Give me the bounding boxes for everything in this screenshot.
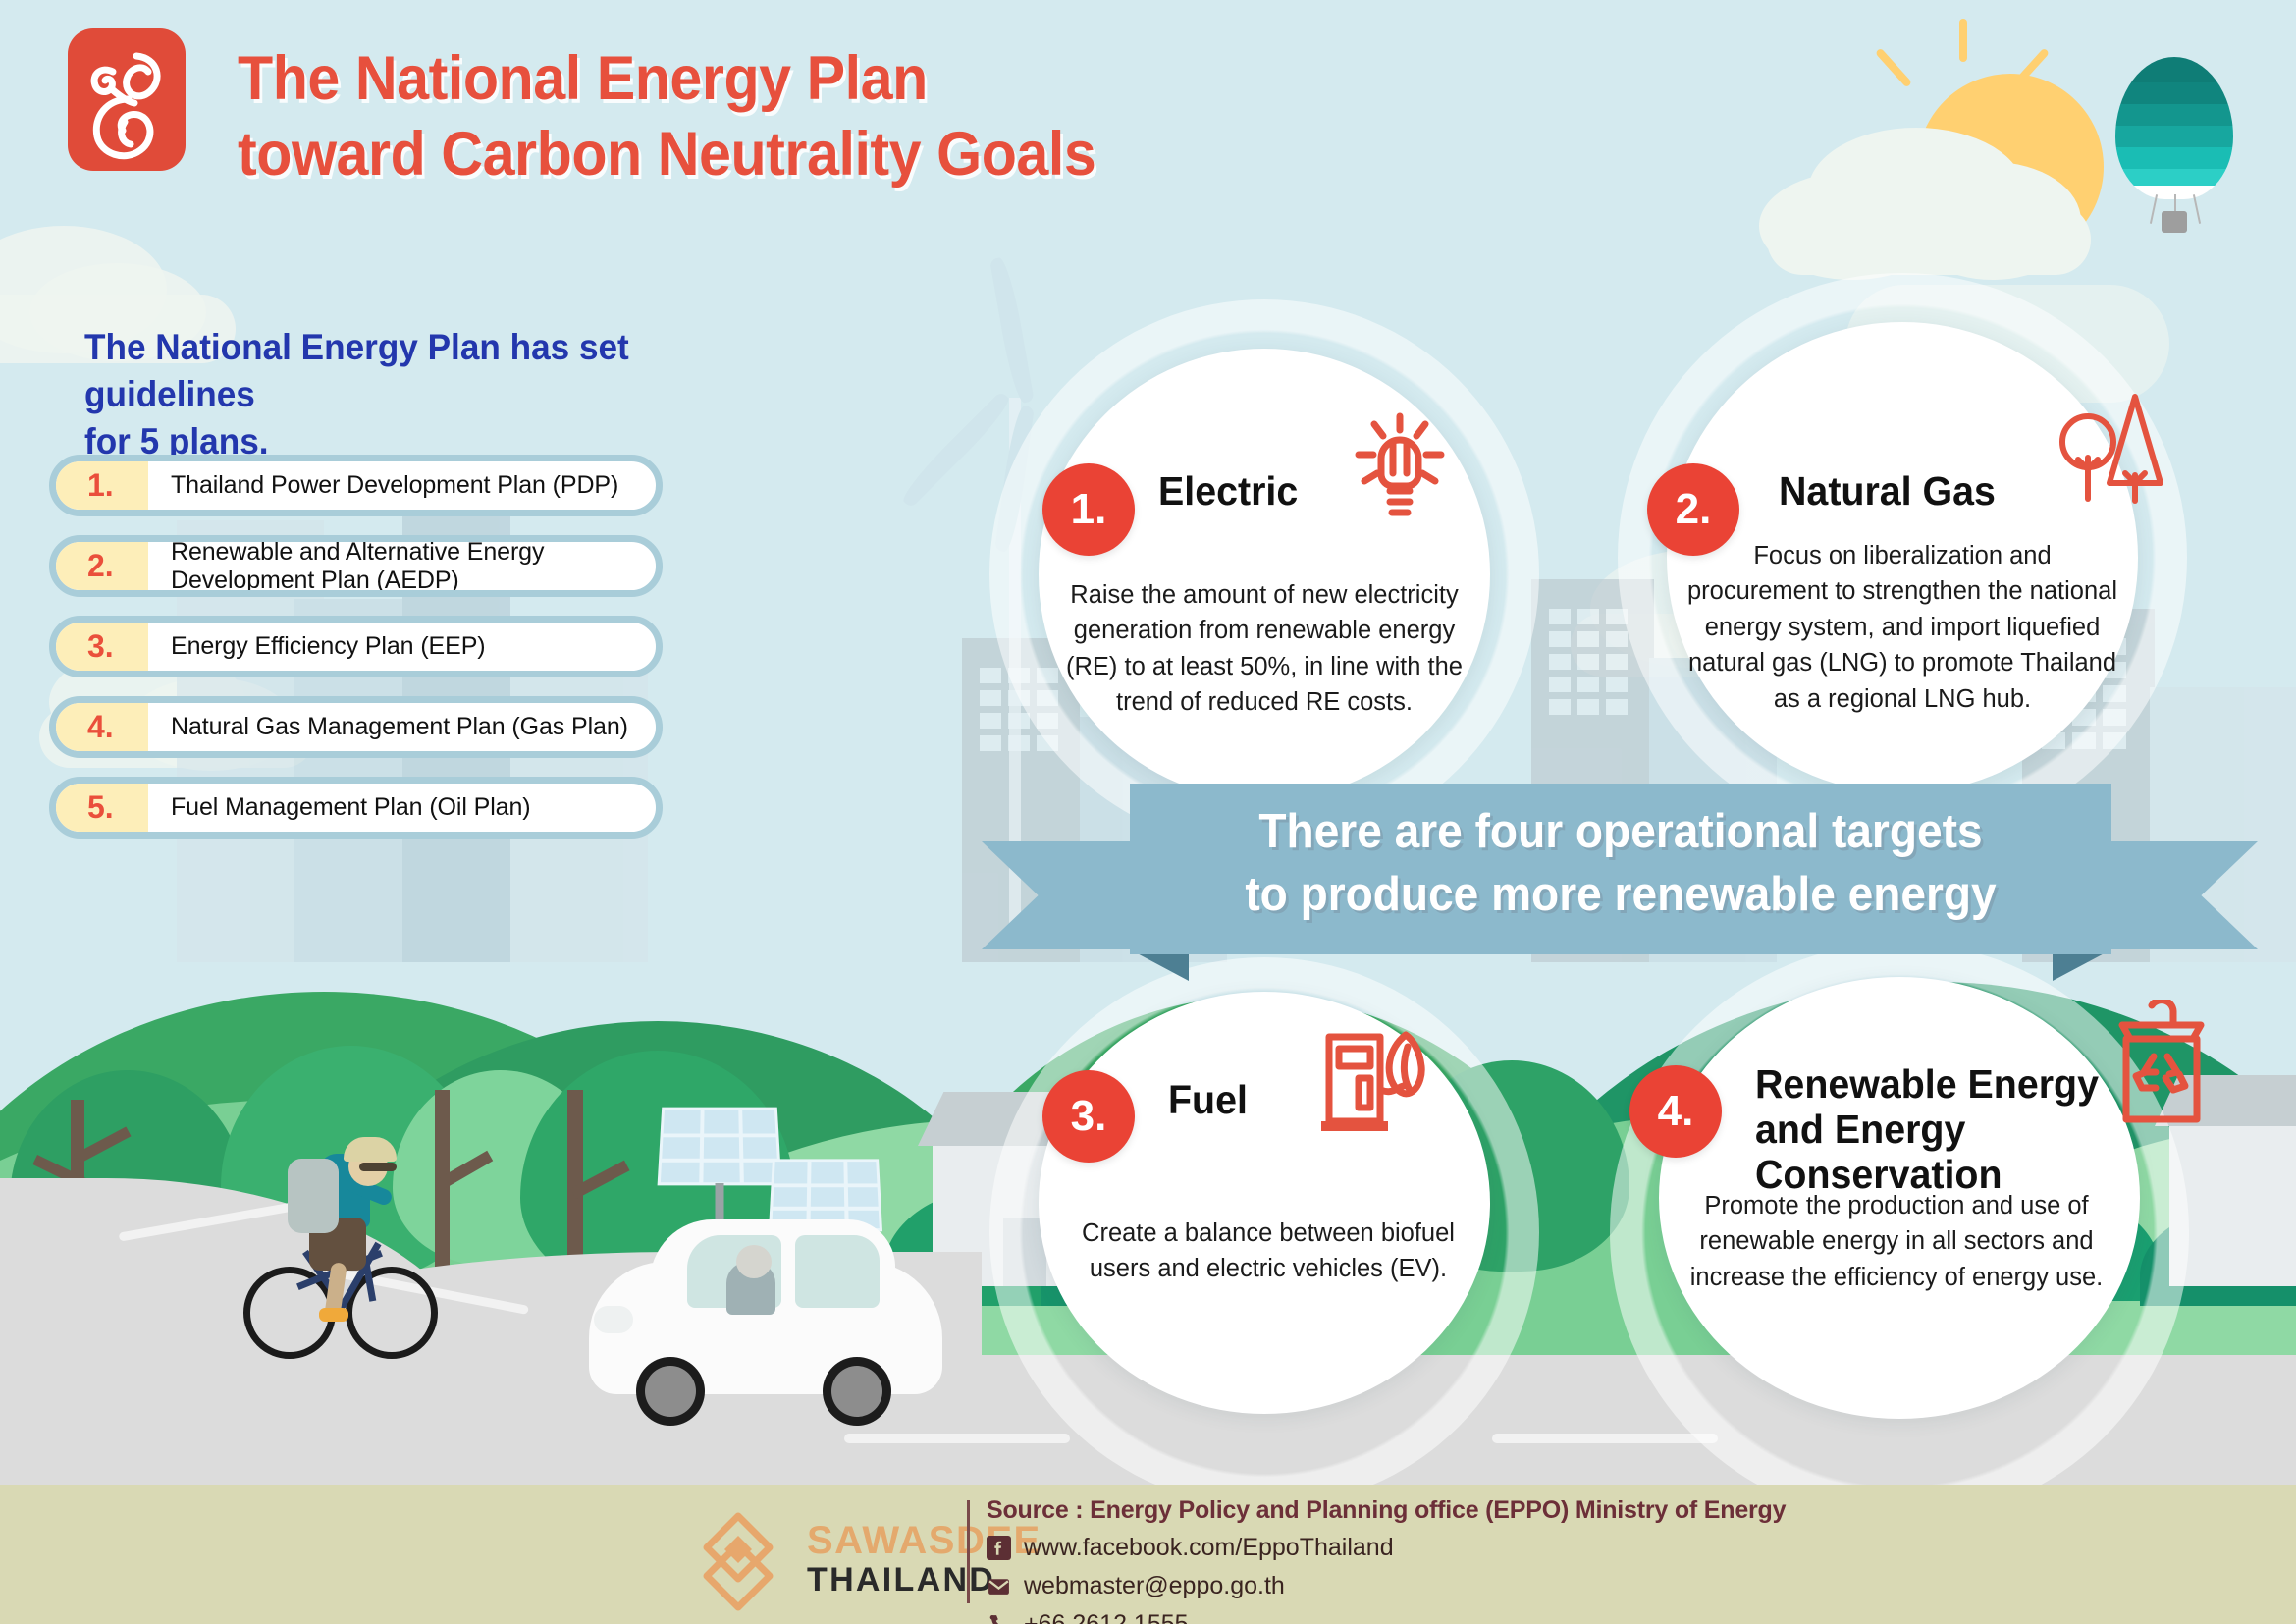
plan-item-2[interactable]: 2. Renewable and Alternative Energy Deve… — [49, 535, 663, 597]
source-text: Source : Energy Policy and Planning offi… — [987, 1496, 1786, 1525]
solar-panel-icon — [660, 1105, 779, 1185]
left-panel-subheading: The National Energy Plan has set guideli… — [84, 324, 663, 465]
plan-item-1[interactable]: 1. Thailand Power Development Plan (PDP) — [49, 455, 663, 516]
plan-number: 2. — [56, 542, 148, 590]
contact-facebook[interactable]: www.facebook.com/EppoThailand — [987, 1534, 1394, 1562]
plan-item-4[interactable]: 4. Natural Gas Management Plan (Gas Plan… — [49, 696, 663, 758]
phone-number: +66 2612 1555 — [1024, 1610, 1189, 1624]
facebook-url: www.facebook.com/EppoThailand — [1024, 1534, 1394, 1562]
contact-email[interactable]: webmaster@eppo.go.th — [987, 1572, 1285, 1600]
driver-head — [736, 1245, 772, 1278]
facebook-icon — [987, 1536, 1011, 1560]
page-title: The National Energy Plan toward Carbon N… — [238, 41, 1253, 192]
target-badge-4: 4. — [1629, 1065, 1722, 1158]
phone-icon — [987, 1612, 1011, 1624]
banner-text: There are four operational targets to pr… — [1159, 801, 2082, 926]
email-icon — [987, 1574, 1011, 1598]
plan-label: Thailand Power Development Plan (PDP) — [148, 471, 618, 500]
hot-air-balloon-icon — [2115, 57, 2233, 199]
plan-number: 3. — [56, 623, 148, 671]
fuel-pump-leaf-icon — [1315, 1029, 1433, 1144]
footer-divider — [967, 1500, 970, 1603]
road-marking — [1492, 1434, 1718, 1443]
plan-number: 4. — [56, 703, 148, 751]
target-badge-1: 1. — [1042, 463, 1135, 556]
target-badge-2: 2. — [1647, 463, 1739, 556]
banner-tail-left — [982, 841, 1139, 949]
target-badge-3: 3. — [1042, 1070, 1135, 1163]
plan-item-5[interactable]: 5. Fuel Management Plan (Oil Plan) — [49, 777, 663, 839]
plan-label: Natural Gas Management Plan (Gas Plan) — [148, 713, 628, 741]
plan-label: Energy Efficiency Plan (EEP) — [148, 632, 486, 661]
trees-icon — [2056, 391, 2164, 514]
plan-list: 1. Thailand Power Development Plan (PDP)… — [49, 455, 663, 857]
eppo-leaf-logo — [68, 28, 186, 171]
target-body-2: Focus on liberalization and procurement … — [1686, 538, 2118, 717]
headlight — [594, 1306, 633, 1333]
target-body-3: Create a balance between biofuel users a… — [1062, 1216, 1474, 1287]
diamond-logo-icon — [687, 1510, 790, 1613]
infographic-canvas: The National Energy Plan toward Carbon N… — [0, 0, 2296, 1624]
contact-phone[interactable]: +66 2612 1555 — [987, 1610, 1189, 1624]
lightbulb-icon — [1353, 410, 1447, 529]
road-marking — [844, 1434, 1070, 1443]
plan-label: Renewable and Alternative Energy Develop… — [148, 538, 656, 595]
plan-label: Fuel Management Plan (Oil Plan) — [148, 793, 531, 822]
plan-item-3[interactable]: 3. Energy Efficiency Plan (EEP) — [49, 616, 663, 677]
email-address: webmaster@eppo.go.th — [1024, 1572, 1285, 1600]
target-body-4: Promote the production and use of renewa… — [1681, 1188, 2112, 1295]
recycle-bin-icon — [2109, 1000, 2211, 1132]
banner: There are four operational targets to pr… — [982, 776, 2258, 972]
target-body-1: Raise the amount of new electricity gene… — [1058, 577, 1470, 721]
plan-number: 1. — [56, 461, 148, 510]
plan-number: 5. — [56, 784, 148, 832]
banner-tail-right — [2101, 841, 2258, 949]
